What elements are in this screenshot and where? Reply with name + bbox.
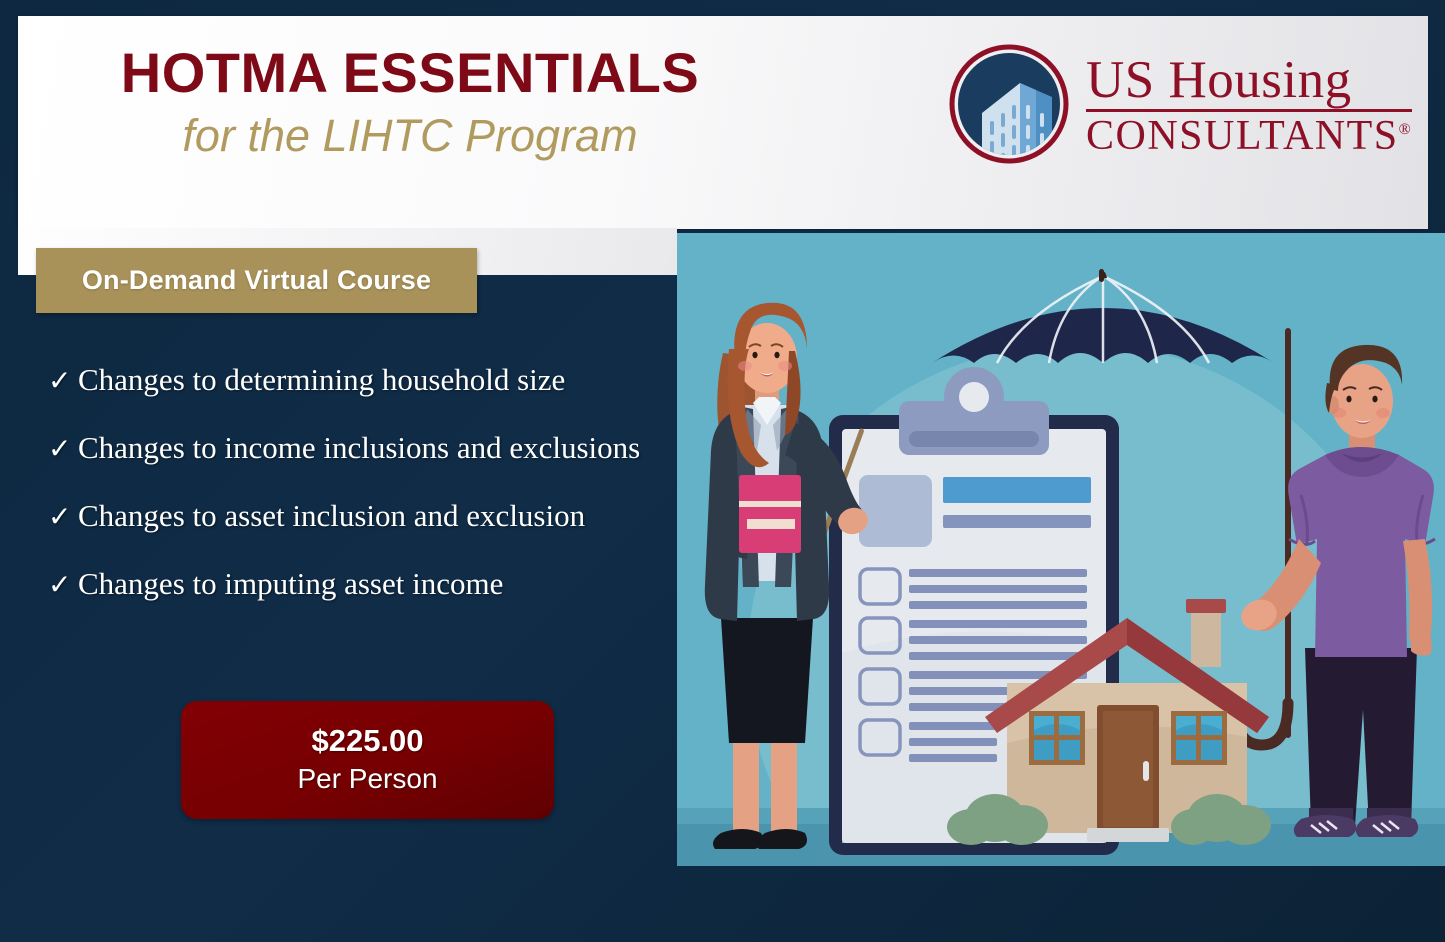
registered-trademark-icon: ® xyxy=(1399,121,1413,138)
brand-line-2-text: CONSULTANTS xyxy=(1086,113,1399,159)
pink-binder-icon xyxy=(739,475,801,553)
brand-logo: US Housing CONSULTANTS® xyxy=(948,38,1378,170)
check-icon: ✓ xyxy=(48,367,78,395)
brand-line-1: US Housing xyxy=(1086,54,1412,107)
course-format-badge-label: On-Demand Virtual Course xyxy=(82,265,431,296)
brand-wordmark: US Housing CONSULTANTS® xyxy=(1086,52,1412,157)
price-amount: $225.00 xyxy=(311,722,423,761)
list-item-label: Changes to imputing asset income xyxy=(78,566,503,602)
brand-line-2: CONSULTANTS® xyxy=(1086,115,1412,157)
price-badge: $225.00 Per Person xyxy=(181,701,554,819)
promotional-poster: HOTMA ESSENTIALS for the LIHTC Program xyxy=(0,0,1445,942)
list-item: ✓ Changes to asset inclusion and exclusi… xyxy=(48,498,668,566)
building-circle-logo-icon xyxy=(948,43,1070,165)
page-subtitle: for the LIHTC Program xyxy=(60,111,760,161)
list-item: ✓ Changes to determining household size xyxy=(48,362,668,430)
course-illustration xyxy=(677,233,1445,866)
feature-bullet-list: ✓ Changes to determining household size … xyxy=(48,362,668,634)
course-format-badge: On-Demand Virtual Course xyxy=(36,248,477,313)
list-item-label: Changes to asset inclusion and exclusion xyxy=(78,498,585,534)
price-unit-label: Per Person xyxy=(297,761,437,797)
list-item-label: Changes to determining household size xyxy=(78,362,565,398)
list-item: ✓ Changes to income inclusions and exclu… xyxy=(48,430,668,498)
check-icon: ✓ xyxy=(48,435,78,463)
brand-divider-rule xyxy=(1086,109,1412,112)
title-block: HOTMA ESSENTIALS for the LIHTC Program xyxy=(60,44,760,160)
page-title: HOTMA ESSENTIALS xyxy=(60,44,760,103)
list-item-label: Changes to income inclusions and exclusi… xyxy=(78,430,640,466)
check-icon: ✓ xyxy=(48,571,78,599)
list-item: ✓ Changes to imputing asset income xyxy=(48,566,668,634)
check-icon: ✓ xyxy=(48,503,78,531)
